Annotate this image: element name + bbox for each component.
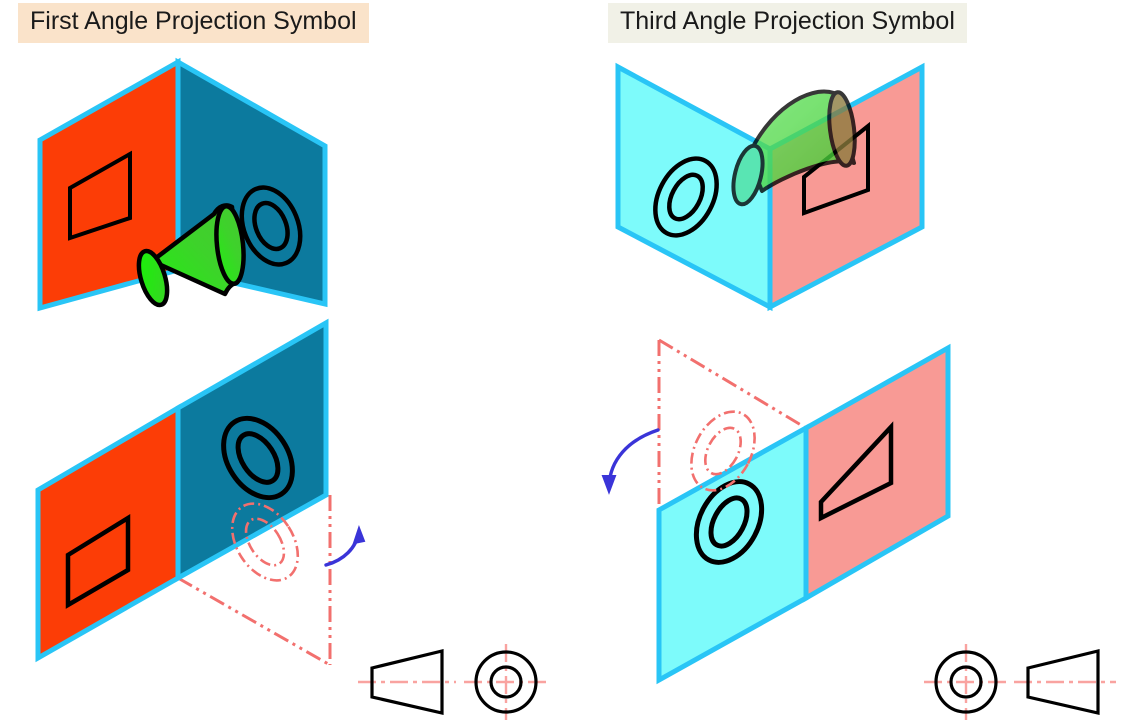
panel-first-angle: First Angle Projection Symbol [0,0,566,726]
first-angle-symbol [352,638,552,726]
first-angle-rotation-arrow [326,528,364,565]
first-angle-unfolded-illustration [0,320,400,700]
panel-third-angle: Third Angle Projection Symbol [566,0,1132,726]
third-angle-3d-illustration [596,45,956,345]
first-angle-unfolded-right-plane [178,323,326,578]
third-angle-rotation-arrow [603,430,658,492]
first-angle-unfolded-left-plane [38,408,178,658]
first-angle-3d-illustration [0,40,360,340]
page-title-first-angle: First Angle Projection Symbol [18,3,369,43]
page-title-third-angle: Third Angle Projection Symbol [608,3,967,43]
third-angle-unfolded-right-plane [806,348,948,598]
third-angle-symbol [920,638,1120,726]
